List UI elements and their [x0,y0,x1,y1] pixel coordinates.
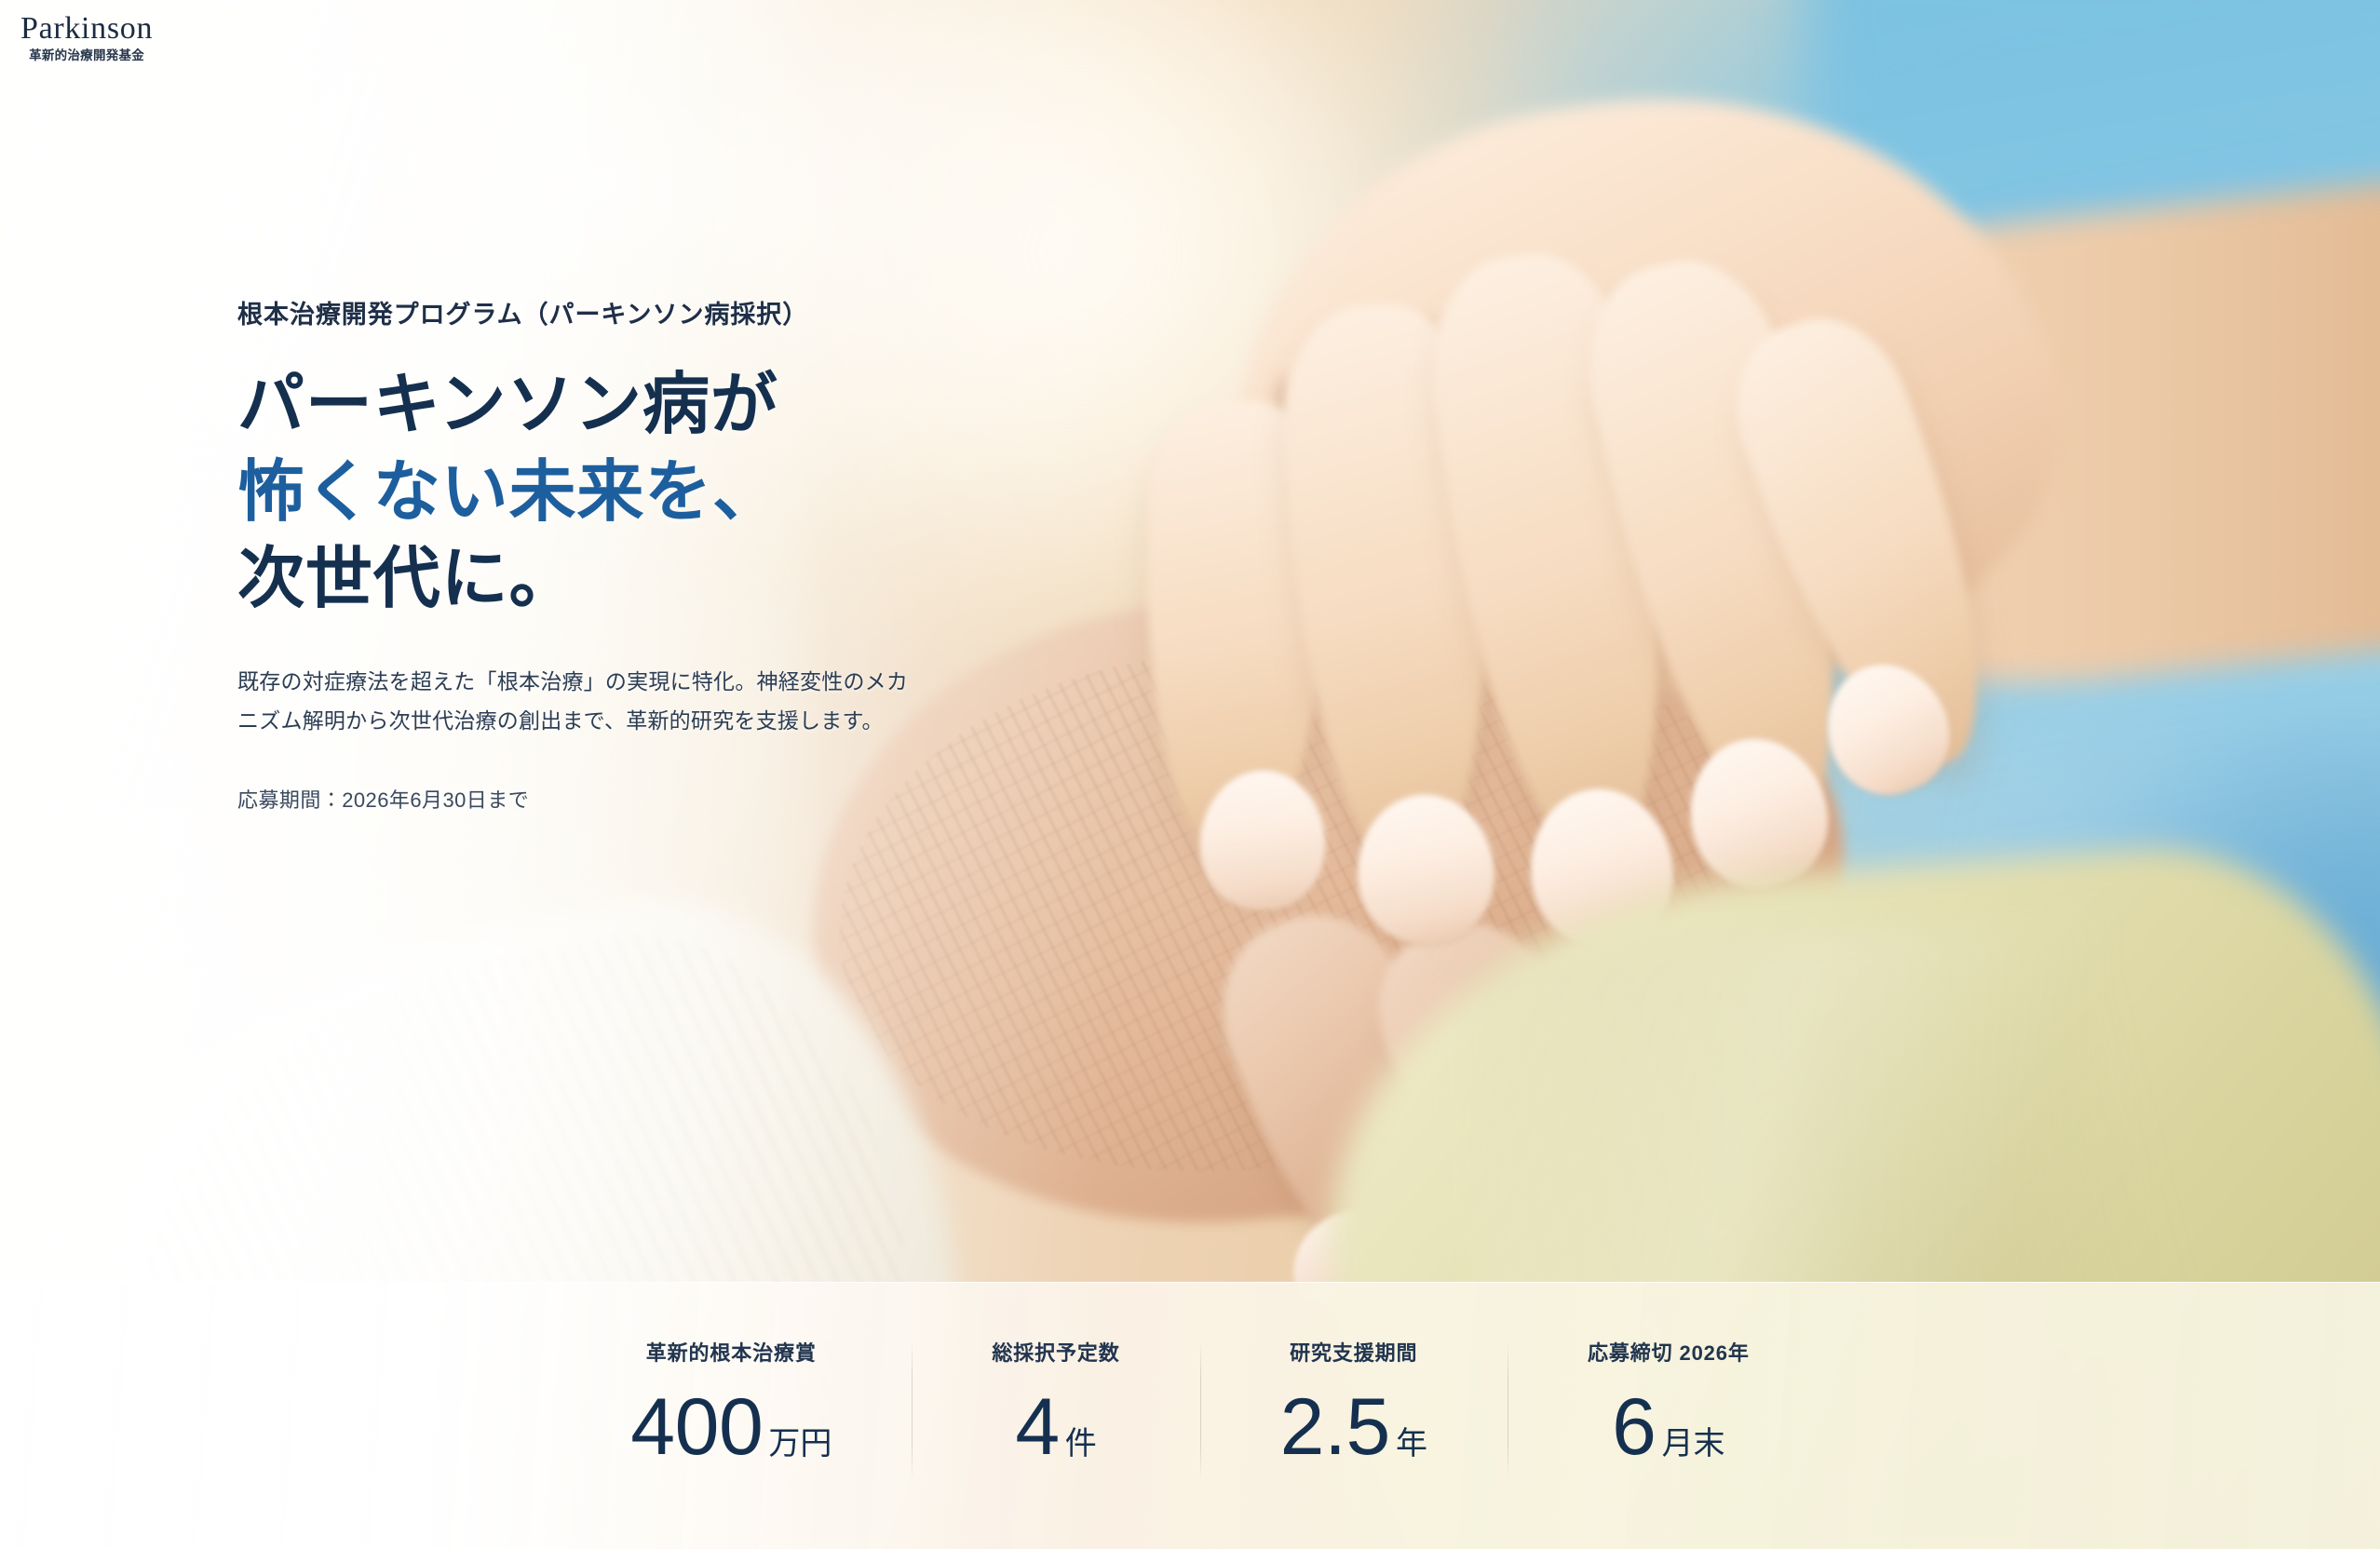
stat-number: 6 [1612,1387,1656,1467]
headline-line-1: パーキンソン病が [237,362,945,450]
site-logo[interactable]: Parkinson 革新的治療開発基金 [20,13,153,62]
application-period: 応募期間：2026年6月30日まで [237,784,945,814]
stat-value: 400 万円 [630,1387,832,1467]
headline-line-3: 次世代に。 [237,536,945,624]
stat-label: 研究支援期間 [1280,1337,1427,1367]
stat-item-support-period: 研究支援期間 2.5 年 [1200,1337,1508,1467]
key-figures-list: 革新的根本治療賞 400 万円 総採択予定数 4 件 研究支援期間 2.5 年 [550,1337,1830,1467]
stat-number: 4 [1015,1387,1059,1467]
stat-item-deadline: 応募締切 2026年 6 月末 [1508,1337,1830,1467]
logo-wordmark: Parkinson [20,13,153,45]
hero-description: 既存の対症療法を超えた「根本治療」の実現に特化。神経変性のメカニズム解明から次世… [237,663,926,741]
program-eyebrow: 根本治療開発プログラム（パーキンソン病採択） [237,294,945,330]
stat-value: 2.5 年 [1280,1387,1427,1467]
stat-number: 2.5 [1280,1387,1390,1467]
stat-item-award-amount: 革新的根本治療賞 400 万円 [550,1337,912,1467]
stat-value: 6 月末 [1588,1387,1750,1467]
page-title: パーキンソン病が 怖くない未来を、 次世代に。 [237,362,945,624]
stat-number: 400 [630,1387,763,1467]
stat-value: 4 件 [992,1387,1119,1467]
stat-item-grant-count: 総採択予定数 4 件 [912,1337,1199,1467]
hero-landing-page: Parkinson 革新的治療開発基金 根本治療開発プログラム（パーキンソン病採… [0,0,2380,1549]
logo-subtitle: 革新的治療開発基金 [20,49,153,62]
stat-unit: 月末 [1662,1418,1725,1463]
stat-unit: 件 [1065,1418,1097,1463]
stat-unit: 年 [1396,1418,1427,1463]
headline-line-2: 怖くない未来を、 [237,450,945,537]
stat-label: 総採択予定数 [992,1337,1119,1367]
key-figures-bar: 革新的根本治療賞 400 万円 総採択予定数 4 件 研究支援期間 2.5 年 [0,1282,2380,1549]
stat-label: 応募締切 2026年 [1588,1337,1750,1367]
hero-copy-block: 根本治療開発プログラム（パーキンソン病採択） パーキンソン病が 怖くない未来を、… [237,294,945,814]
stat-label: 革新的根本治療賞 [630,1337,832,1367]
stat-unit: 万円 [768,1418,832,1463]
